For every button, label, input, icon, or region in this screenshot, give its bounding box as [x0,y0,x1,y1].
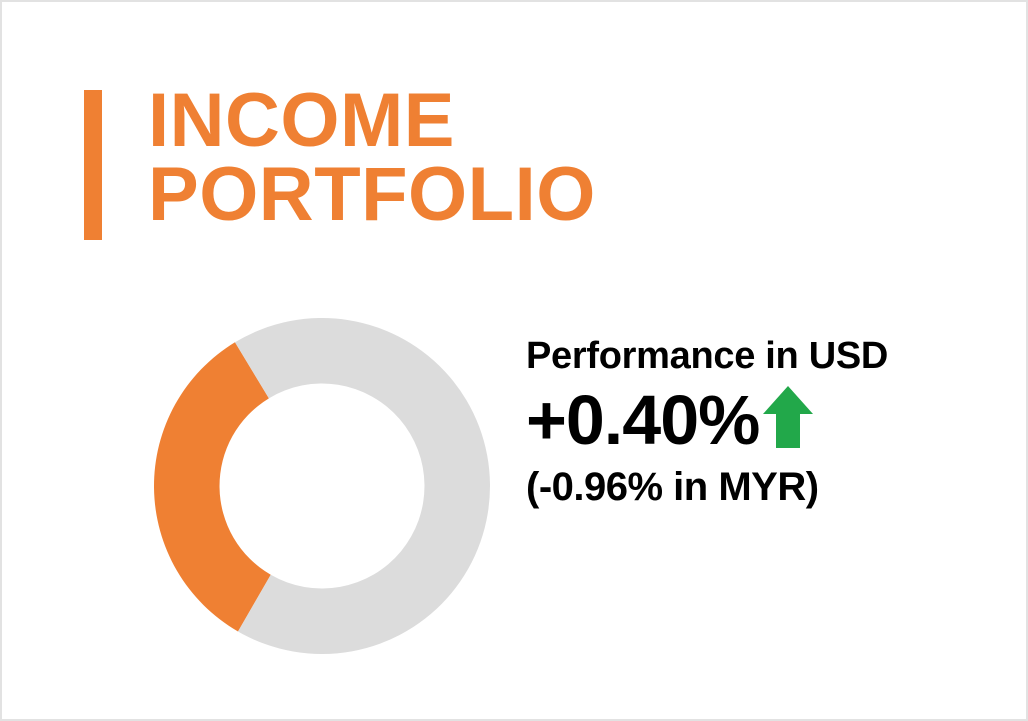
performance-panel: Performance in USD +0.40% (-0.96% in MYR… [526,336,996,509]
performance-heading: Performance in USD [526,336,996,377]
performance-value: +0.40% [526,385,759,455]
donut-slice-remaining [235,318,490,654]
donut-chart-svg [154,318,490,654]
title-accent-bar [84,90,102,240]
donut-chart [154,318,490,654]
page-title: INCOME PORTFOLIO [84,84,596,240]
title-line-2: PORTFOLIO [148,158,596,232]
slide-canvas: INCOME PORTFOLIO Performance in USD +0.4… [0,0,1028,721]
arrow-up-icon [761,384,815,450]
performance-secondary: (-0.96% in MYR) [526,465,996,509]
title-text: INCOME PORTFOLIO [148,84,596,233]
title-line-1: INCOME [148,84,596,158]
donut-slice-allocated [154,342,271,631]
performance-value-row: +0.40% [526,381,996,459]
